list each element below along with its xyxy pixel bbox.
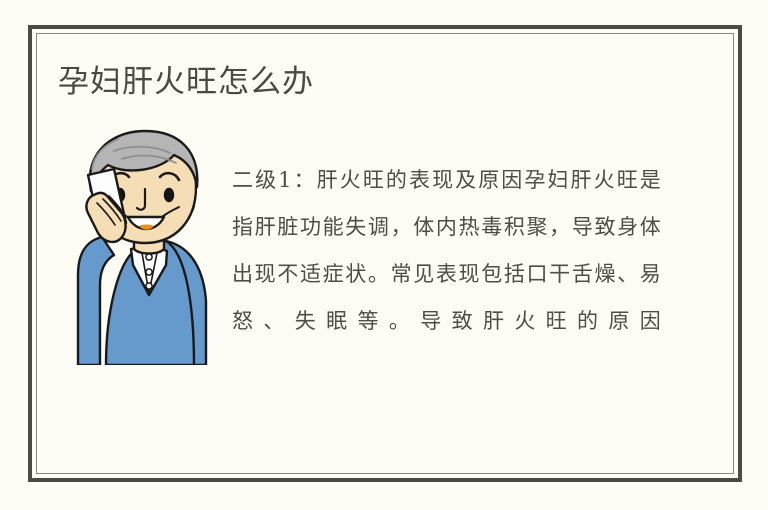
article-card: 孕妇肝火旺怎么办 [0,0,768,510]
shirt-button-3 [146,283,152,289]
article-content: 二级1：肝火旺的表现及原因孕妇肝火旺是指肝脏功能失调，体内热毒积聚，导致身体出现… [36,125,734,425]
eye-right [164,188,174,202]
shirt-button-2 [146,269,152,275]
article-body-text: 二级1：肝火旺的表现及原因孕妇肝火旺是指肝脏功能失调，体内热毒积聚，导致身体出现… [232,157,662,392]
page-title: 孕妇肝火旺怎么办 [58,62,314,102]
shirt-button-1 [146,254,152,260]
illustration-elderly-man-on-phone [48,125,218,365]
